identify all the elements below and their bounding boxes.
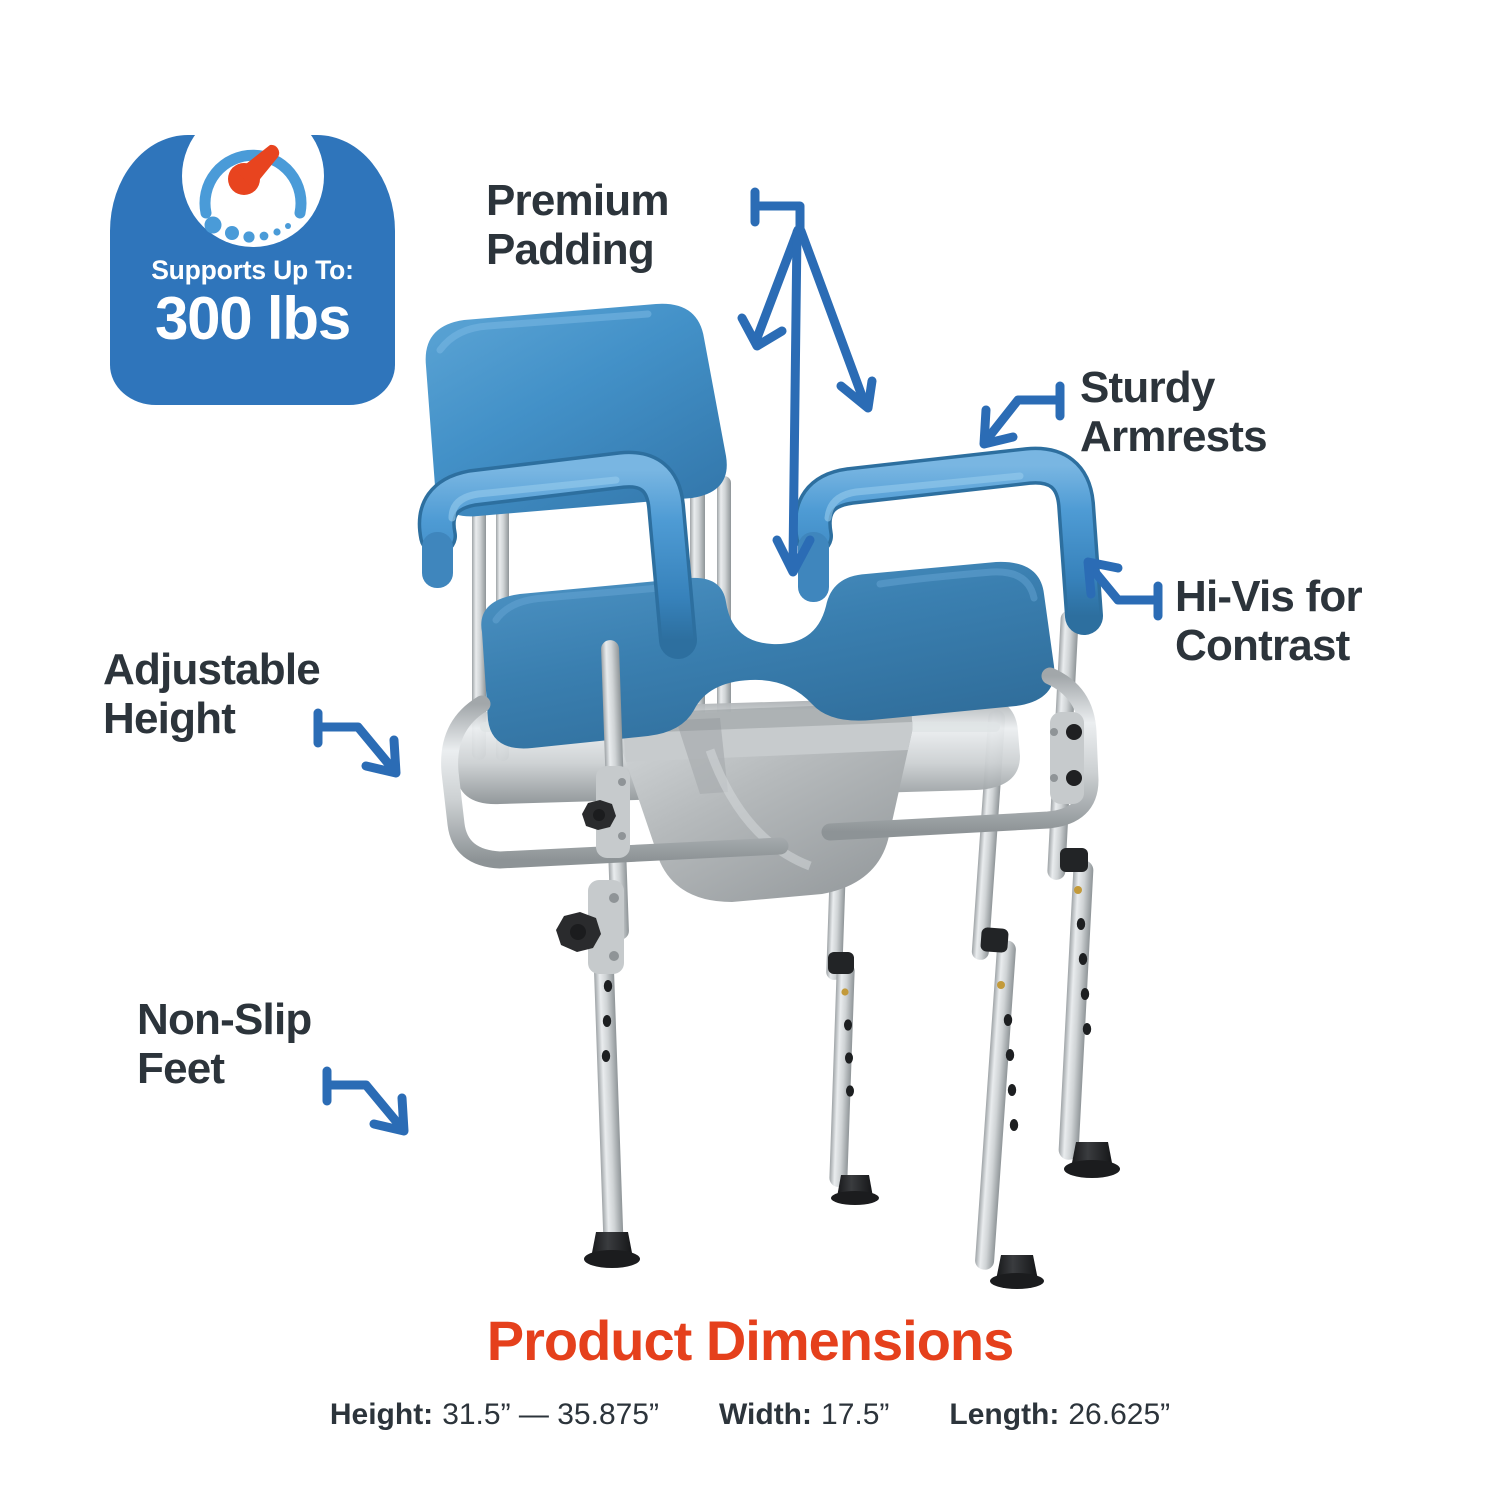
dimension-value-width: 17.5” (821, 1398, 889, 1431)
weight-capacity-value: 300 lbs (110, 287, 395, 352)
weight-scale-gauge-icon (182, 105, 324, 247)
dimension-item-width: Width:17.5” (719, 1398, 889, 1432)
callout-label-sturdy-armrests: Sturdy Armrests (1080, 363, 1267, 462)
product-dimensions-title: Product Dimensions (0, 1310, 1500, 1372)
supports-up-to-label: Supports Up To: (110, 257, 395, 285)
height-adjustment-knob-center (556, 880, 624, 974)
dimension-value-length: 26.625” (1068, 1398, 1170, 1431)
dimension-value-height: 31.5” — 35.875” (442, 1398, 659, 1431)
weight-capacity-badge: Supports Up To: 300 lbs (110, 105, 395, 405)
callout-label-adjustable-height: Adjustable Height (103, 645, 320, 744)
leg-rear-right (971, 710, 1044, 1289)
callout-label-hi-vis-contrast: Hi-Vis for Contrast (1175, 572, 1362, 671)
dimension-item-length: Length:26.625” (949, 1398, 1170, 1432)
callout-label-premium-padding: Premium Padding (486, 176, 669, 275)
product-dimensions-section: Product Dimensions Height:31.5” — 35.875… (0, 1310, 1500, 1432)
height-adjustment-knob-right (1050, 712, 1084, 804)
infographic-canvas: Supports Up To: 300 lbs (0, 0, 1500, 1500)
callout-label-non-slip-feet: Non-Slip Feet (137, 995, 311, 1094)
badge-text-group: Supports Up To: 300 lbs (110, 257, 395, 352)
dimension-key-height: Height: (330, 1398, 433, 1431)
commode-chair-product-image (360, 280, 1160, 1290)
dimension-key-width: Width: (719, 1398, 812, 1431)
product-dimensions-list: Height:31.5” — 35.875” Width:17.5” Lengt… (0, 1398, 1500, 1432)
dimension-item-height: Height:31.5” — 35.875” (330, 1398, 659, 1432)
dimension-key-length: Length: (949, 1398, 1059, 1431)
